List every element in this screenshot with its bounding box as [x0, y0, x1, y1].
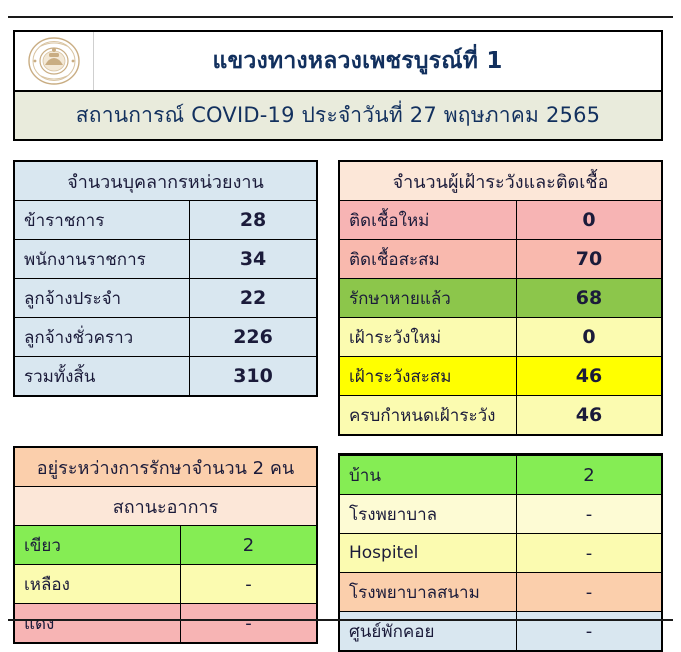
treatment-location-panel: บ้าน 2 โรงพยาบาล - Hospitel - โรงพยาบาลส…	[338, 453, 663, 652]
treatment-count-header: อยู่ระหว่างการรักษาจำนวน 2 คน	[15, 448, 316, 487]
row-value: 22	[190, 279, 316, 318]
under-treatment-panel: อยู่ระหว่างการรักษาจำนวน 2 คน สถานะอาการ…	[13, 446, 318, 644]
row-label: ข้าราชการ	[15, 201, 190, 240]
table-row: บ้าน 2	[340, 456, 661, 495]
row-label: ครบกำหนดเฝ้าระวัง	[340, 396, 517, 435]
row-label: ลูกจ้างประจำ	[15, 279, 190, 318]
row-value: 70	[517, 240, 661, 279]
table-row: โรงพยาบาลสนาม -	[340, 573, 661, 612]
table-header-row: อยู่ระหว่างการรักษาจำนวน 2 คน	[15, 448, 316, 487]
row-label: โรงพยาบาลสนาม	[340, 573, 517, 612]
row-value: 46	[517, 396, 661, 435]
table-row: เฝ้าระวังใหม่ 0	[340, 318, 661, 357]
staff-count-panel: จำนวนบุคลากรหน่วยงาน ข้าราชการ 28 พนักงา…	[13, 160, 318, 397]
table-row: ติดเชื้อสะสม 70	[340, 240, 661, 279]
table-row: โรงพยาบาล -	[340, 495, 661, 534]
table-row: รักษาหายแล้ว 68	[340, 279, 661, 318]
treatment-status-header: สถานะอาการ	[15, 487, 316, 526]
table-row: ลูกจ้างชั่วคราว 226	[15, 318, 316, 357]
staff-table-header: จำนวนบุคลากรหน่วยงาน	[15, 162, 316, 201]
logo-cell	[15, 32, 94, 90]
cases-surveillance-table: จำนวนผู้เฝ้าระวังและติดเชื้อ ติดเชื้อใหม…	[340, 162, 661, 434]
row-value: -	[517, 534, 661, 573]
treatment-status-table: อยู่ระหว่างการรักษาจำนวน 2 คน สถานะอาการ…	[15, 448, 316, 642]
table-header-row: จำนวนผู้เฝ้าระวังและติดเชื้อ	[340, 162, 661, 201]
row-label: ติดเชื้อใหม่	[340, 201, 517, 240]
row-label: พนักงานราชการ	[15, 240, 190, 279]
table-row: ลูกจ้างประจำ 22	[15, 279, 316, 318]
staff-count-table: จำนวนบุคลากรหน่วยงาน ข้าราชการ 28 พนักงา…	[15, 162, 316, 395]
row-label: ติดเชื้อสะสม	[340, 240, 517, 279]
government-seal-logo	[27, 36, 81, 86]
row-value: 226	[190, 318, 316, 357]
table-row: เขียว 2	[15, 526, 316, 565]
table-row: พนักงานราชการ 34	[15, 240, 316, 279]
row-value: 0	[517, 318, 661, 357]
row-value: 34	[190, 240, 316, 279]
row-value: 310	[190, 357, 316, 396]
title-row: แขวงทางหลวงเพชรบูรณ์ที่ 1	[15, 32, 661, 92]
row-label: เหลือง	[15, 565, 181, 604]
row-label: เฝ้าระวังสะสม	[340, 357, 517, 396]
table-row: เฝ้าระวังสะสม 46	[340, 357, 661, 396]
row-value: 0	[517, 201, 661, 240]
report-subtitle: สถานการณ์ COVID-19 ประจำวันที่ 27 พฤษภาค…	[15, 92, 661, 139]
table-row: ติดเชื้อใหม่ 0	[340, 201, 661, 240]
table-row: ครบกำหนดเฝ้าระวัง 46	[340, 396, 661, 435]
bottom-divider-rule	[8, 619, 673, 621]
organization-title: แขวงทางหลวงเพชรบูรณ์ที่ 1	[94, 32, 661, 90]
row-value: 2	[517, 456, 661, 495]
cases-surveillance-panel: จำนวนผู้เฝ้าระวังและติดเชื้อ ติดเชื้อใหม…	[338, 160, 663, 436]
table-row: รวมทั้งสิ้น 310	[15, 357, 316, 396]
table-row: Hospitel -	[340, 534, 661, 573]
table-row: เหลือง -	[15, 565, 316, 604]
header-card: แขวงทางหลวงเพชรบูรณ์ที่ 1 สถานการณ์ COVI…	[13, 30, 663, 141]
table-row: ข้าราชการ 28	[15, 201, 316, 240]
row-value: 2	[181, 526, 316, 565]
row-label: เฝ้าระวังใหม่	[340, 318, 517, 357]
row-value: -	[517, 495, 661, 534]
row-value: -	[181, 565, 316, 604]
table-row: แดง -	[15, 604, 316, 643]
row-value: -	[517, 573, 661, 612]
row-value: -	[181, 604, 316, 643]
row-label: บ้าน	[340, 456, 517, 495]
row-label: รวมทั้งสิ้น	[15, 357, 190, 396]
row-label: เขียว	[15, 526, 181, 565]
row-label: Hospitel	[340, 534, 517, 573]
row-label: โรงพยาบาล	[340, 495, 517, 534]
row-label: รักษาหายแล้ว	[340, 279, 517, 318]
row-value: 68	[517, 279, 661, 318]
table-header-row: จำนวนบุคลากรหน่วยงาน	[15, 162, 316, 201]
cases-table-header: จำนวนผู้เฝ้าระวังและติดเชื้อ	[340, 162, 661, 201]
row-value: 46	[517, 357, 661, 396]
table-subheader-row: สถานะอาการ	[15, 487, 316, 526]
row-label: แดง	[15, 604, 181, 643]
row-value: 28	[190, 201, 316, 240]
top-divider-rule	[8, 16, 673, 18]
row-label: ลูกจ้างชั่วคราว	[15, 318, 190, 357]
